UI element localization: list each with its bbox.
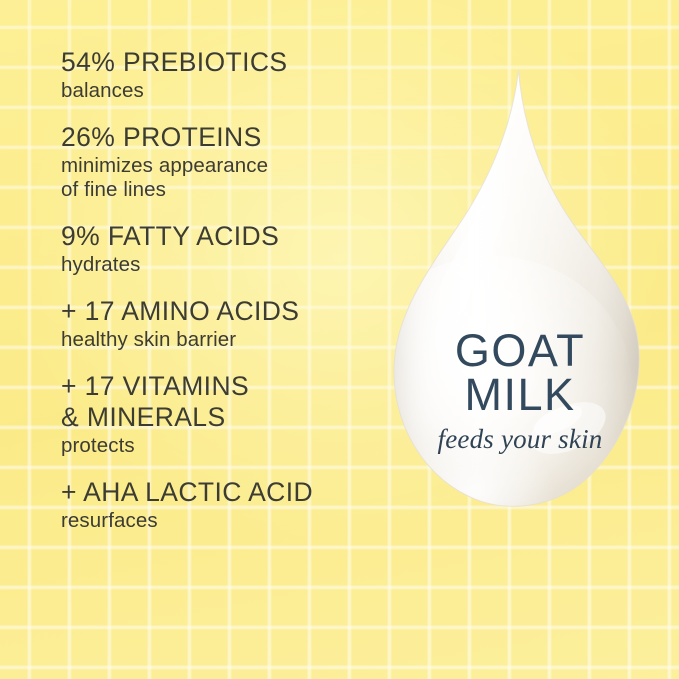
list-item: 54% PREBIOTICS balances xyxy=(61,47,391,103)
ingredient-title: 9% FATTY ACIDS xyxy=(61,221,391,252)
ingredient-benefit: protects xyxy=(61,434,391,458)
ingredient-benefit: balances xyxy=(61,79,391,103)
ingredient-title: + 17 AMINO ACIDS xyxy=(61,296,391,327)
ingredient-benefit: minimizes appearance of fine lines xyxy=(61,154,391,202)
ingredient-title: + AHA LACTIC ACID xyxy=(61,477,391,508)
list-item: 9% FATTY ACIDS hydrates xyxy=(61,221,391,277)
ingredient-benefit: resurfaces xyxy=(61,509,391,533)
milk-droplet-icon xyxy=(372,56,668,556)
ingredient-title: 54% PREBIOTICS xyxy=(61,47,391,78)
ingredient-benefit: healthy skin barrier xyxy=(61,328,391,352)
list-item: + 17 VITAMINS & MINERALS protects xyxy=(61,371,391,458)
list-item: + AHA LACTIC ACID resurfaces xyxy=(61,477,391,533)
ingredient-title: + 17 VITAMINS & MINERALS xyxy=(61,371,391,433)
list-item: 26% PROTEINS minimizes appearance of fin… xyxy=(61,122,391,202)
product-infographic: 54% PREBIOTICS balances 26% PROTEINS min… xyxy=(0,0,679,679)
ingredient-list: 54% PREBIOTICS balances 26% PROTEINS min… xyxy=(61,47,391,552)
list-item: + 17 AMINO ACIDS healthy skin barrier xyxy=(61,296,391,352)
ingredient-title: 26% PROTEINS xyxy=(61,122,391,153)
ingredient-benefit: hydrates xyxy=(61,253,391,277)
